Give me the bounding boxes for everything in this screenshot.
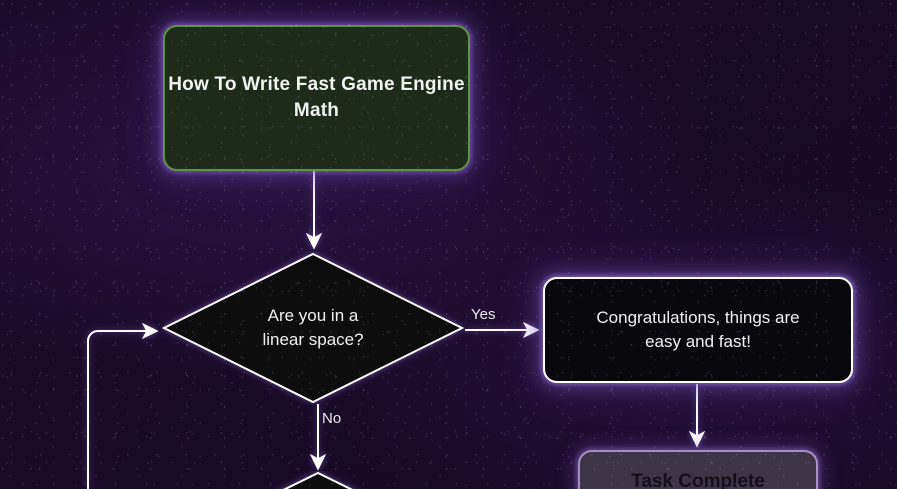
node-task-complete[interactable]: Task Complete	[578, 450, 818, 489]
node-task-complete-label: Task Complete	[631, 471, 765, 489]
node-title[interactable]: How To Write Fast Game Engine Math	[163, 25, 470, 171]
node-congratulations-line1: Congratulations, things are	[596, 308, 799, 327]
diamond-shape-icon	[198, 471, 438, 489]
flowchart-canvas: Yes No How To Write Fast Game Engine Mat…	[0, 0, 897, 489]
edge-label-yes: Yes	[471, 306, 495, 324]
diamond-shape-icon	[161, 251, 465, 405]
node-congratulations-line2: easy and fast!	[645, 332, 751, 351]
edge-label-no: No	[322, 410, 341, 428]
node-congratulations-label: Congratulations, things are easy and fas…	[596, 306, 799, 354]
node-congratulations[interactable]: Congratulations, things are easy and fas…	[543, 277, 853, 383]
node-title-label: How To Write Fast Game Engine Math	[165, 72, 468, 124]
edge-loopback-to-decision	[88, 331, 157, 489]
node-next-decision[interactable]	[198, 471, 438, 489]
node-linear-space[interactable]: Are you in a linear space?	[161, 251, 465, 405]
